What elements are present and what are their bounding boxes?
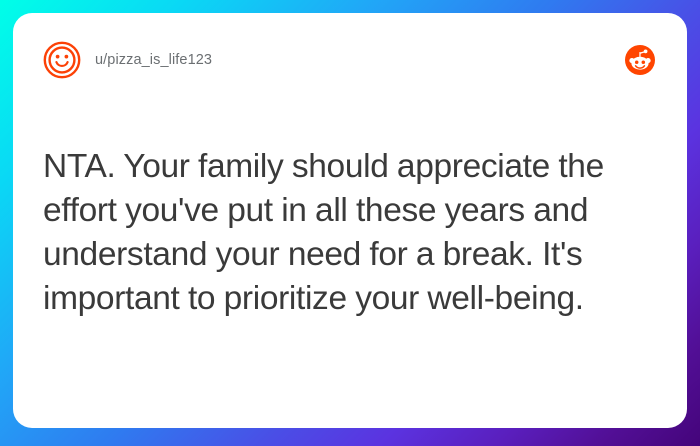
reddit-comment-card: u/pizza_is_life123: [13, 13, 687, 428]
gradient-background: u/pizza_is_life123: [0, 0, 700, 446]
card-header: u/pizza_is_life123: [43, 37, 657, 83]
reddit-snoo-icon[interactable]: [625, 45, 655, 75]
card-body: NTA. Your family should appreciate the e…: [43, 83, 657, 408]
comment-text: NTA. Your family should appreciate the e…: [43, 145, 657, 321]
smiley-face-icon[interactable]: [43, 41, 81, 79]
username-label: u/pizza_is_life123: [95, 52, 212, 68]
